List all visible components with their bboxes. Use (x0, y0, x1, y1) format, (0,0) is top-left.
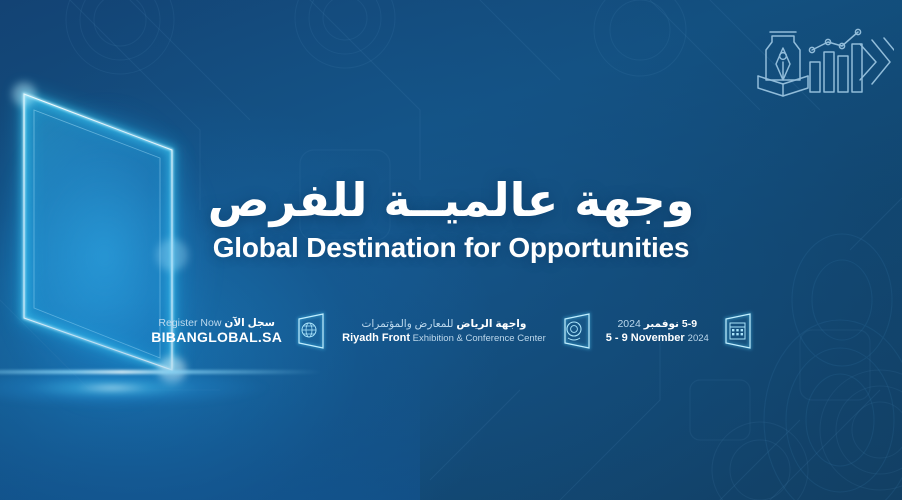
pen-nib-book-chart-logo (748, 14, 894, 110)
dates-arabic-year: 2024 (617, 318, 640, 330)
dates-english: 5 - 9 November 2024 (606, 332, 709, 345)
venue-arabic-bold: واجهة الرياض (456, 318, 526, 330)
venue-english-rest: Exhibition & Conference Center (410, 333, 546, 344)
dates-english-bold: 5 - 9 November (606, 332, 685, 344)
dates-arabic: 5-9 نوفمبر 2024 (617, 318, 697, 330)
headline-block: وجهة عالميــة للفرص Global Destination f… (0, 176, 902, 264)
registration-url[interactable]: BIBANGLOBAL.SA (151, 329, 282, 345)
register-now-latin: Register Now (158, 317, 221, 329)
calendar-portal-icon (718, 306, 760, 356)
venue-arabic-rest: للمعارض والمؤتمرات (362, 318, 457, 330)
venue-english-bold: Riyadh Front (342, 332, 410, 344)
dates-english-year: 2024 (688, 333, 709, 344)
venue-emblem-portal-icon (555, 306, 597, 356)
globe-portal-icon (291, 306, 333, 356)
event-info-strip: Register Now سجل الآن BIBANGLOBAL.SA واج… (0, 306, 902, 356)
venue-english: Riyadh Front Exhibition & Conference Cen… (342, 332, 546, 345)
register-now-arabic: سجل الآن (224, 317, 275, 329)
neon-floor-streak (0, 370, 322, 374)
info-item-register[interactable]: Register Now سجل الآن BIBANGLOBAL.SA (142, 317, 291, 345)
dates-arabic-bold: 5-9 نوفمبر (644, 318, 697, 330)
info-item-dates[interactable]: 5-9 نوفمبر 2024 5 - 9 November 2024 (597, 318, 718, 345)
venue-arabic: واجهة الرياض للمعارض والمؤتمرات (362, 318, 527, 330)
register-now-label: Register Now سجل الآن (158, 317, 275, 329)
event-banner: وجهة عالميــة للفرص Global Destination f… (0, 0, 902, 500)
info-item-venue[interactable]: واجهة الرياض للمعارض والمؤتمرات Riyadh F… (333, 318, 555, 345)
headline-english: Global Destination for Opportunities (0, 232, 902, 264)
headline-arabic: وجهة عالميــة للفرص (0, 176, 902, 224)
